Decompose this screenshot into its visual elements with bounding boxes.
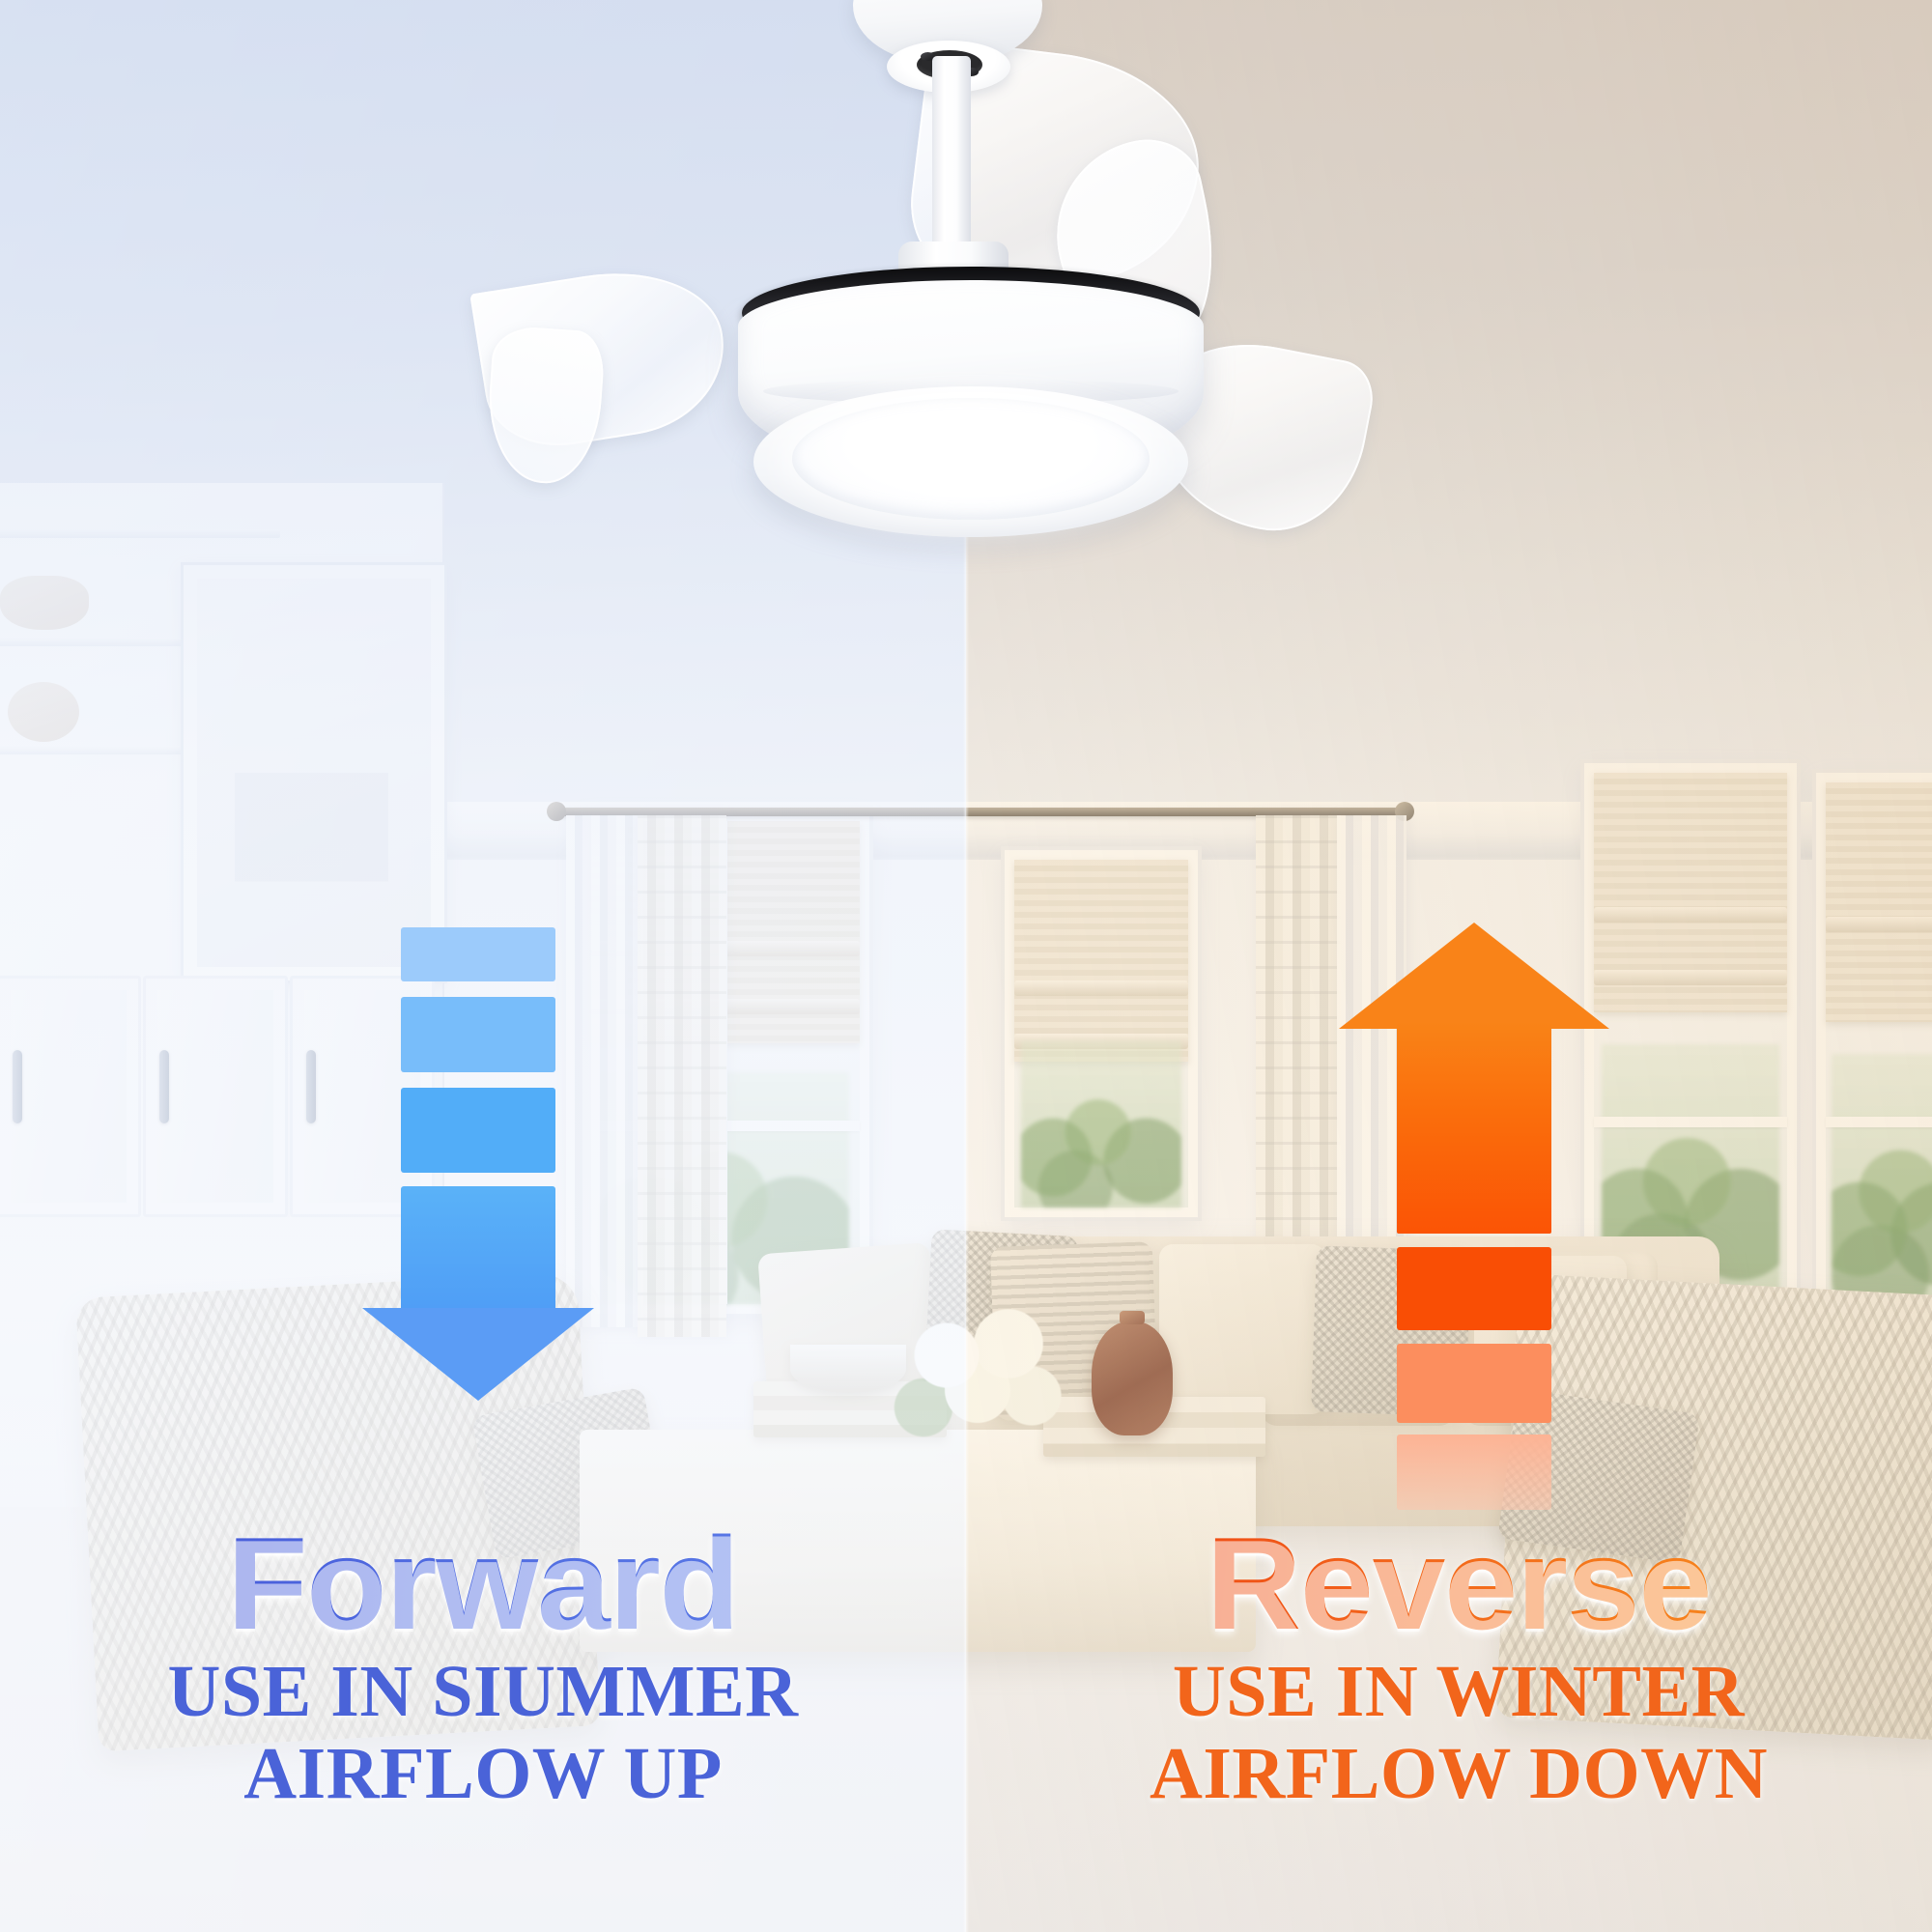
throw-pillow (1159, 1244, 1325, 1414)
reverse-headline: Reverse (1034, 1517, 1884, 1651)
forward-caption-block: Forward USE IN SIUMMER AIRFLOW UP (68, 1517, 898, 1815)
retractable-blade (484, 325, 607, 487)
curtain-panel (638, 815, 726, 1337)
reverse-subline-line2: AIRFLOW DOWN (1034, 1733, 1884, 1815)
led-light-diffuser (792, 398, 1150, 520)
infographic-canvas: Forward USE IN SIUMMER AIRFLOW UP Revers… (0, 0, 1932, 1932)
reverse-caption-block: Reverse USE IN WINTER AIRFLOW DOWN (1034, 1517, 1884, 1815)
roman-shade (1826, 782, 1932, 1022)
airflow-segment (1397, 1247, 1551, 1330)
outdoor-foliage (1832, 1054, 1932, 1304)
window-mullion (1594, 1117, 1787, 1127)
window (1584, 763, 1797, 1304)
decor-object (8, 682, 79, 742)
shade-fold (1826, 917, 1932, 932)
shade-fold (1014, 980, 1188, 996)
window-mullion (1826, 1117, 1932, 1127)
ceramic-vase (1092, 1321, 1173, 1435)
window (1816, 773, 1932, 1314)
roman-shade (1594, 773, 1787, 1012)
framed-picture (184, 565, 444, 980)
blue-downward-airflow-arrow (401, 927, 594, 1333)
window (1005, 850, 1198, 1217)
orange-upward-airflow-arrow (1379, 923, 1602, 1348)
ceiling-fan (0, 0, 1932, 599)
outdoor-foliage (1021, 1040, 1181, 1207)
airflow-segment (401, 997, 555, 1072)
reverse-subline-line1: USE IN WINTER (1034, 1651, 1884, 1733)
reverse-subline: USE IN WINTER AIRFLOW DOWN (1034, 1651, 1884, 1815)
downrod (932, 56, 971, 265)
shade-fold (1594, 907, 1787, 923)
cabinet-handle (159, 1050, 169, 1123)
rod-finial (547, 802, 566, 821)
cabinet-handle (13, 1050, 22, 1123)
shade-fold (1594, 970, 1787, 985)
arrow-head-up-icon (1339, 923, 1609, 1029)
airflow-segment (401, 1186, 555, 1327)
cabinet-door (0, 976, 141, 1217)
picture-house-motif (235, 680, 389, 882)
cabinet-handle (306, 1050, 316, 1123)
airflow-segment (1397, 1435, 1551, 1510)
flower-arrangement (889, 1306, 1082, 1451)
airflow-segment (1397, 1344, 1551, 1423)
roman-shade (1014, 860, 1188, 1062)
cabinet-door (143, 976, 288, 1217)
airflow-segment (401, 1088, 555, 1173)
airflow-segment (401, 927, 555, 981)
forward-subline: USE IN SIUMMER AIRFLOW UP (68, 1651, 898, 1815)
forward-subline-line1: USE IN SIUMMER (68, 1651, 898, 1733)
arrow-shaft (1397, 1023, 1551, 1234)
forward-headline: Forward (68, 1517, 898, 1651)
forward-subline-line2: AIRFLOW UP (68, 1733, 898, 1815)
